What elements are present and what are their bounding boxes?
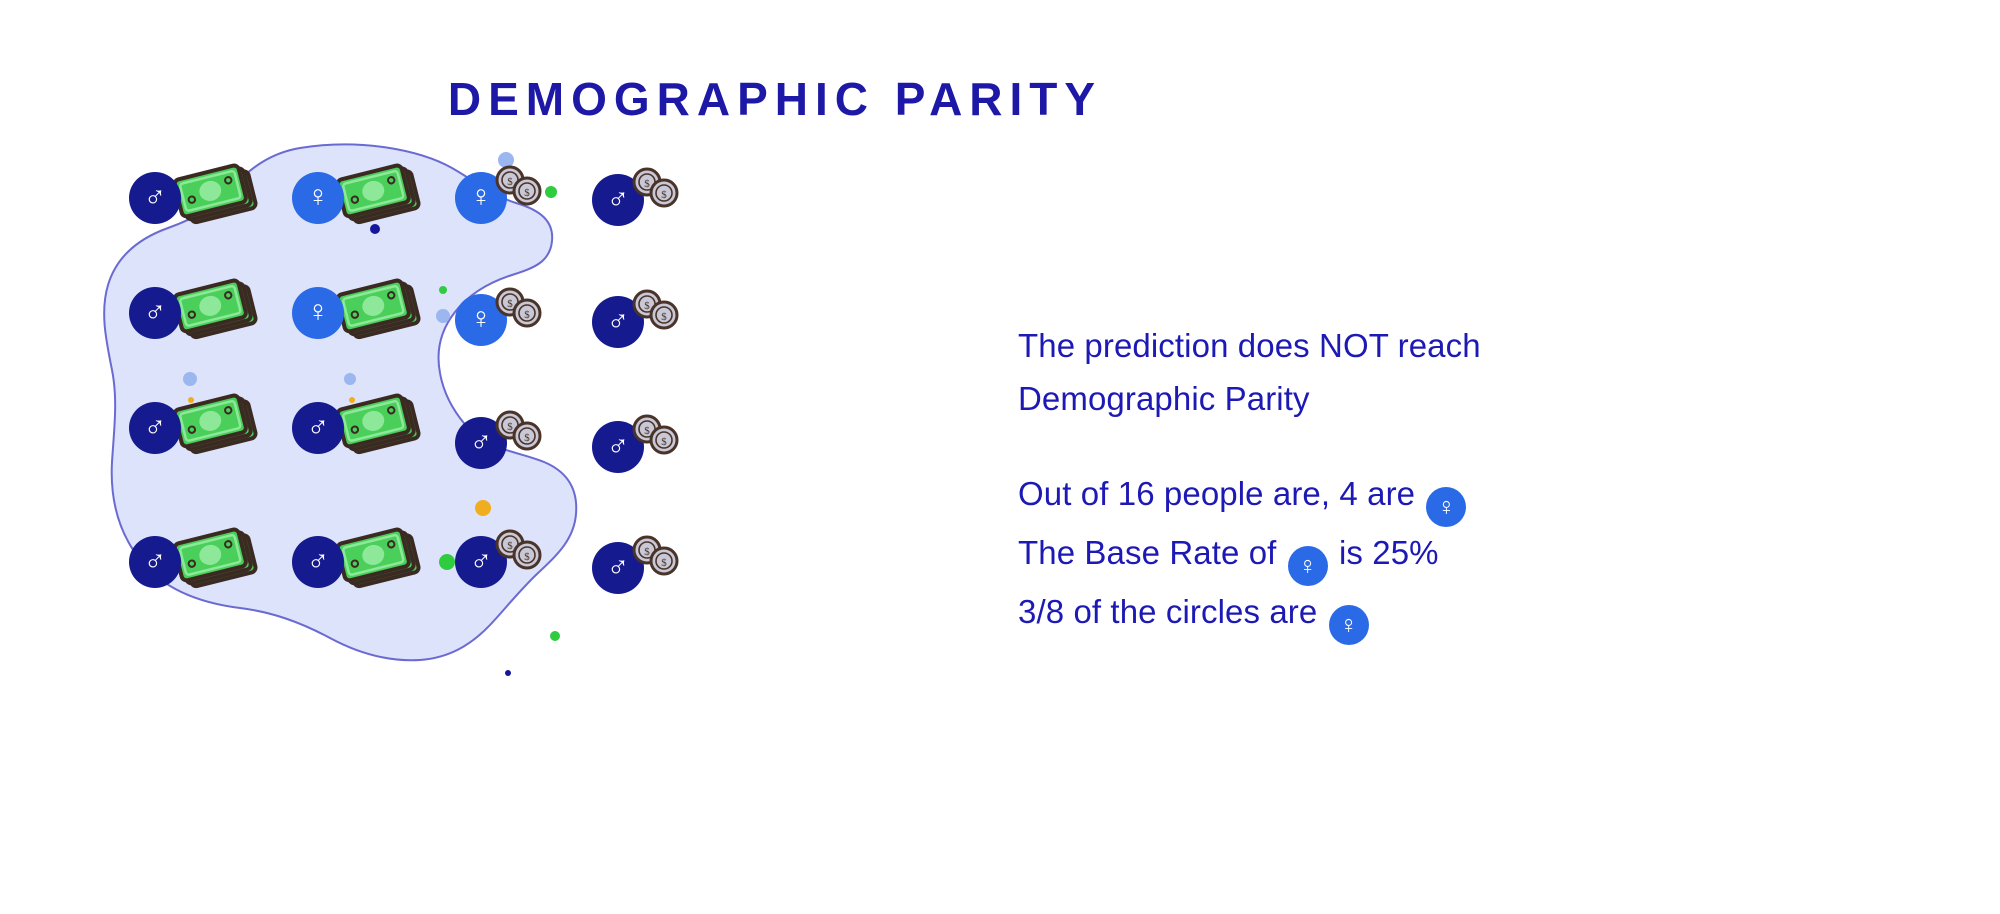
mars-glyph-icon: ♂ xyxy=(144,546,167,576)
svg-text:$: $ xyxy=(644,178,650,190)
decorative-dot xyxy=(475,500,491,516)
decorative-dot xyxy=(344,373,356,385)
paragraph-statistics: Out of 16 people are, 4 are ♀ The Base R… xyxy=(1018,468,1818,645)
female-person-icon[interactable]: ♀ xyxy=(292,172,344,224)
decorative-dot xyxy=(505,670,511,676)
svg-text:$: $ xyxy=(661,189,667,201)
venus-glyph-icon: ♀ xyxy=(470,304,493,334)
svg-text:$: $ xyxy=(524,309,530,321)
svg-text:$: $ xyxy=(524,551,530,563)
decorative-dot xyxy=(436,309,450,323)
svg-text:$: $ xyxy=(507,421,513,433)
banknote-stack-icon xyxy=(336,162,428,237)
coin-pair-icon: $$ xyxy=(629,534,685,583)
infographic-canvas: DEMOGRAPHIC PARITY ♂♀♀$$♂$$♂♀♀$$♂$$♂♂♂$$… xyxy=(0,0,2000,909)
svg-text:$: $ xyxy=(644,546,650,558)
copy-line-4: The Base Rate of ♀ is 25% xyxy=(1018,527,1818,586)
venus-glyph-icon: ♀ xyxy=(470,182,493,212)
explanation-text-block: The prediction does NOT reach Demographi… xyxy=(1018,320,1818,645)
banknote-stack-icon xyxy=(336,392,428,467)
male-person-icon[interactable]: ♂ xyxy=(129,287,181,339)
svg-text:$: $ xyxy=(524,187,530,199)
mars-glyph-icon: ♂ xyxy=(144,412,167,442)
mars-glyph-icon: ♂ xyxy=(144,297,167,327)
female-badge-icon: ♀ xyxy=(1426,487,1466,527)
mars-glyph-icon: ♂ xyxy=(607,306,630,336)
svg-text:$: $ xyxy=(507,176,513,188)
svg-text:$: $ xyxy=(661,557,667,569)
female-badge-icon: ♀ xyxy=(1329,605,1369,645)
decorative-dot xyxy=(183,372,197,386)
banknote-stack-icon xyxy=(173,392,265,467)
male-person-icon[interactable]: ♂ xyxy=(129,536,181,588)
copy-line-5: 3/8 of the circles are ♀ xyxy=(1018,586,1818,645)
mars-glyph-icon: ♂ xyxy=(470,546,493,576)
svg-text:$: $ xyxy=(507,298,513,310)
coin-pair-icon: $$ xyxy=(492,409,548,458)
svg-text:$: $ xyxy=(644,425,650,437)
decorative-dot xyxy=(550,631,560,641)
coin-pair-icon: $$ xyxy=(492,286,548,335)
svg-text:$: $ xyxy=(507,540,513,552)
decorative-dot xyxy=(439,554,455,570)
mars-glyph-icon: ♂ xyxy=(307,546,330,576)
paragraph-spacer xyxy=(1018,426,1818,468)
mars-glyph-icon: ♂ xyxy=(144,182,167,212)
coin-pair-icon: $$ xyxy=(629,413,685,462)
coin-pair-icon: $$ xyxy=(492,164,548,213)
male-person-icon[interactable]: ♂ xyxy=(129,172,181,224)
mars-glyph-icon: ♂ xyxy=(607,431,630,461)
female-person-icon[interactable]: ♀ xyxy=(292,287,344,339)
male-person-icon[interactable]: ♂ xyxy=(129,402,181,454)
copy-line-3-text: Out of 16 people are, 4 are xyxy=(1018,475,1424,512)
mars-glyph-icon: ♂ xyxy=(307,412,330,442)
copy-line-5-text: 3/8 of the circles are xyxy=(1018,593,1327,630)
coin-pair-icon: $$ xyxy=(629,288,685,337)
male-person-icon[interactable]: ♂ xyxy=(292,536,344,588)
mars-glyph-icon: ♂ xyxy=(607,184,630,214)
banknote-stack-icon xyxy=(173,277,265,352)
venus-glyph-icon: ♀ xyxy=(307,297,330,327)
paragraph-not-parity: The prediction does NOT reach Demographi… xyxy=(1018,320,1818,426)
venus-glyph-icon: ♀ xyxy=(307,182,330,212)
copy-line-3: Out of 16 people are, 4 are ♀ xyxy=(1018,468,1818,527)
copy-line-4-text-after: is 25% xyxy=(1330,534,1439,571)
copy-line-4-text-before: The Base Rate of xyxy=(1018,534,1286,571)
female-badge-icon: ♀ xyxy=(1288,546,1328,586)
mars-glyph-icon: ♂ xyxy=(470,427,493,457)
copy-line-1: The prediction does NOT reach xyxy=(1018,320,1818,373)
banknote-stack-icon xyxy=(173,162,265,237)
page-title: DEMOGRAPHIC PARITY xyxy=(0,72,1550,126)
banknote-stack-icon xyxy=(336,526,428,601)
decorative-dot xyxy=(439,286,447,294)
male-person-icon[interactable]: ♂ xyxy=(292,402,344,454)
mars-glyph-icon: ♂ xyxy=(607,552,630,582)
copy-line-2: Demographic Parity xyxy=(1018,373,1818,426)
banknote-stack-icon xyxy=(336,277,428,352)
svg-text:$: $ xyxy=(661,436,667,448)
banknote-stack-icon xyxy=(173,526,265,601)
svg-text:$: $ xyxy=(661,311,667,323)
coin-pair-icon: $$ xyxy=(492,528,548,577)
coin-pair-icon: $$ xyxy=(629,166,685,215)
svg-text:$: $ xyxy=(644,300,650,312)
svg-text:$: $ xyxy=(524,432,530,444)
